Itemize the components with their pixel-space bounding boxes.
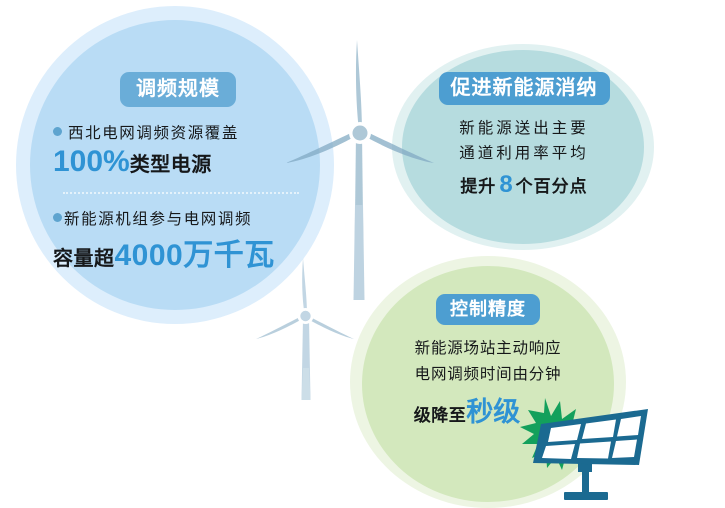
control-accuracy-metric-value: 秒级	[466, 397, 520, 427]
infographic-canvas: 调频规模 西北电网调频资源覆盖 100%类型电源 新能源机组参与电网调频 容量超…	[0, 0, 725, 508]
bullet-item-1-text: 西北电网调频资源覆盖	[68, 125, 239, 142]
control-accuracy-line-2: 电网调频时间由分钟	[366, 362, 610, 388]
bullet-item-1-metric-value: 100%	[53, 145, 130, 178]
badge-renewable-consumption: 促进新能源消纳	[439, 72, 610, 105]
badge-frequency-scale: 调频规模	[120, 72, 236, 107]
renewable-consumption-metric-suffix: 个百分点	[516, 177, 588, 196]
renewable-consumption-metric: 提升8个百分点	[408, 171, 640, 199]
bullet-item-2-text: 新能源机组参与电网调频	[64, 211, 252, 228]
body-renewable-consumption: 新能源送出主要 通道利用率平均 提升8个百分点	[408, 117, 640, 199]
bullet-dot-icon	[53, 127, 62, 136]
panel-control-accuracy: 控制精度 新能源场站主动响应 电网调频时间由分钟 级降至秒级	[366, 294, 610, 429]
bullet-item-2-metric: 容量超4000万千瓦	[53, 230, 303, 274]
bullet-dot-icon	[53, 213, 62, 222]
bullet-item-1-text-row: 西北电网调频资源覆盖	[53, 121, 303, 143]
renewable-consumption-metric-prefix: 提升	[460, 177, 496, 196]
renewable-consumption-line-2: 通道利用率平均	[408, 142, 640, 167]
bullet-item-1-metric-suffix: 类型电源	[130, 154, 212, 176]
bullet-item-2-text-row: 新能源机组参与电网调频	[53, 207, 303, 229]
bullet-item-1: 西北电网调频资源覆盖 100%类型电源	[53, 121, 303, 179]
bullet-item-2-metric-value: 4000万千瓦	[115, 239, 275, 272]
control-accuracy-line-1: 新能源场站主动响应	[366, 336, 610, 362]
bullet-list-frequency-scale: 西北电网调频资源覆盖 100%类型电源 新能源机组参与电网调频 容量超4000万…	[53, 121, 303, 274]
control-accuracy-metric-prefix: 级降至	[414, 406, 467, 425]
bullet-divider	[63, 192, 299, 194]
panel-renewable-consumption: 促进新能源消纳 新能源送出主要 通道利用率平均 提升8个百分点	[408, 72, 640, 199]
body-control-accuracy: 新能源场站主动响应 电网调频时间由分钟 级降至秒级	[366, 336, 610, 429]
badge-control-accuracy: 控制精度	[436, 294, 540, 325]
bullet-item-2: 新能源机组参与电网调频 容量超4000万千瓦	[53, 207, 303, 274]
control-accuracy-metric: 级降至秒级	[366, 390, 610, 429]
renewable-consumption-line-1: 新能源送出主要	[408, 117, 640, 142]
panel-frequency-scale: 调频规模 西北电网调频资源覆盖 100%类型电源 新能源机组参与电网调频 容量超…	[42, 72, 314, 274]
renewable-consumption-metric-value: 8	[496, 171, 515, 198]
bullet-item-1-metric: 100%类型电源	[53, 145, 303, 179]
bullet-item-2-metric-prefix: 容量超	[53, 248, 115, 270]
